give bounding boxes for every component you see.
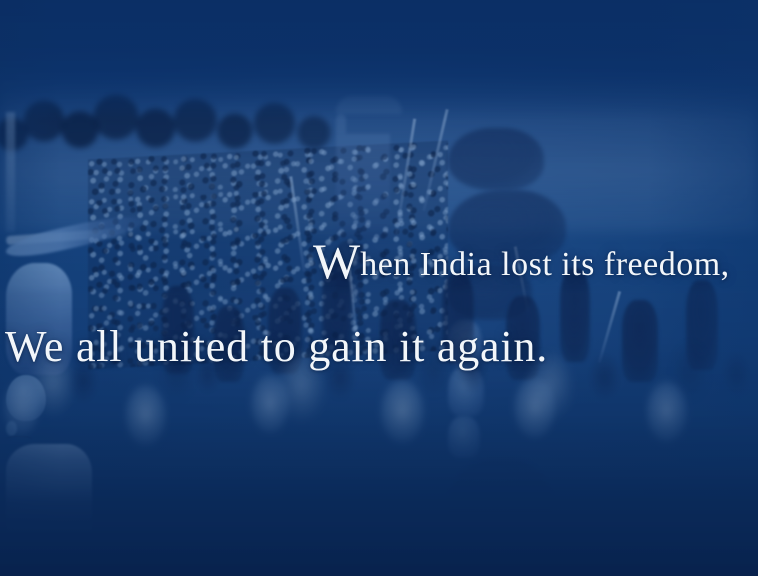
quote-line-2-rest: e all united to gain it again.	[44, 322, 548, 371]
quote-line-2-dropcap: W	[5, 322, 44, 371]
quote-line-2: We all united to gain it again.	[5, 325, 548, 369]
quote-line-1-lead-rest: hen	[360, 246, 411, 283]
quote-line-1: When India lost its freedom,	[313, 236, 730, 286]
quote-line-1-rest: India lost its freedom,	[411, 246, 730, 283]
quote-block: When India lost its freedom, We all unit…	[0, 0, 758, 576]
quote-line-1-dropcap: W	[313, 233, 360, 289]
banner-canvas: When India lost its freedom, We all unit…	[0, 0, 758, 576]
